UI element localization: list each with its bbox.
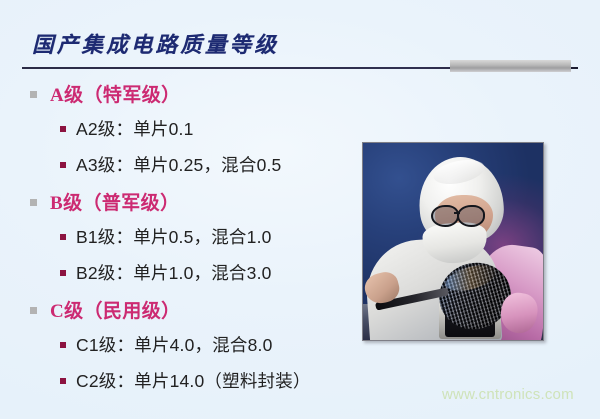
- list-item-label: C2级：单片14.0（塑料封装）: [76, 368, 311, 393]
- square-bullet-icon: [30, 199, 37, 206]
- list-item: B级（普军级）: [0, 188, 360, 224]
- square-bullet-icon: [60, 126, 66, 132]
- photo-background: [363, 143, 543, 340]
- presentation-slide: 国产集成电路质量等级 A级（特军级） A2级：单片0.1 A3级：单片0.25，…: [0, 0, 600, 419]
- list-item-label: A3级：单片0.25，混合0.5: [76, 152, 282, 177]
- square-bullet-icon: [60, 378, 66, 384]
- square-bullet-icon: [60, 270, 66, 276]
- photo-glasses-bridge: [454, 212, 460, 214]
- list-item: C级（民用级）: [0, 296, 360, 332]
- square-bullet-icon: [60, 162, 66, 168]
- list-item: B2级：单片1.0，混合3.0: [0, 260, 360, 296]
- list-item: A级（特军级）: [0, 80, 360, 116]
- list-item: C2级：单片14.0（塑料封装）: [0, 368, 360, 404]
- bullet-list: A级（特军级） A2级：单片0.1 A3级：单片0.25，混合0.5 B级（普军…: [0, 80, 360, 404]
- photo-glasses-right-lens: [457, 205, 485, 227]
- square-bullet-icon: [30, 307, 37, 314]
- photo-glasses-left-lens: [431, 205, 459, 227]
- list-item-label: C级（民用级）: [50, 296, 181, 323]
- slide-photo: [362, 142, 544, 341]
- list-item: A3级：单片0.25，混合0.5: [0, 152, 360, 188]
- list-item-label: B2级：单片1.0，混合3.0: [76, 260, 272, 285]
- list-item: A2级：单片0.1: [0, 116, 360, 152]
- page-title: 国产集成电路质量等级: [32, 28, 279, 59]
- list-item-label: A2级：单片0.1: [76, 116, 194, 141]
- list-item-label: B级（普军级）: [50, 188, 179, 215]
- square-bullet-icon: [60, 342, 66, 348]
- square-bullet-icon: [60, 234, 66, 240]
- list-item: C1级：单片4.0，混合8.0: [0, 332, 360, 368]
- list-item-label: B1级：单片0.5，混合1.0: [76, 224, 272, 249]
- list-item-label: A级（特军级）: [50, 80, 181, 107]
- list-item-label: C1级：单片4.0，混合8.0: [76, 332, 273, 357]
- square-bullet-icon: [30, 91, 37, 98]
- slide-header: 国产集成电路质量等级: [0, 0, 600, 72]
- list-item: B1级：单片0.5，混合1.0: [0, 224, 360, 260]
- watermark-url: www.cntronics.com: [442, 386, 574, 403]
- title-accent-bar: [450, 60, 571, 72]
